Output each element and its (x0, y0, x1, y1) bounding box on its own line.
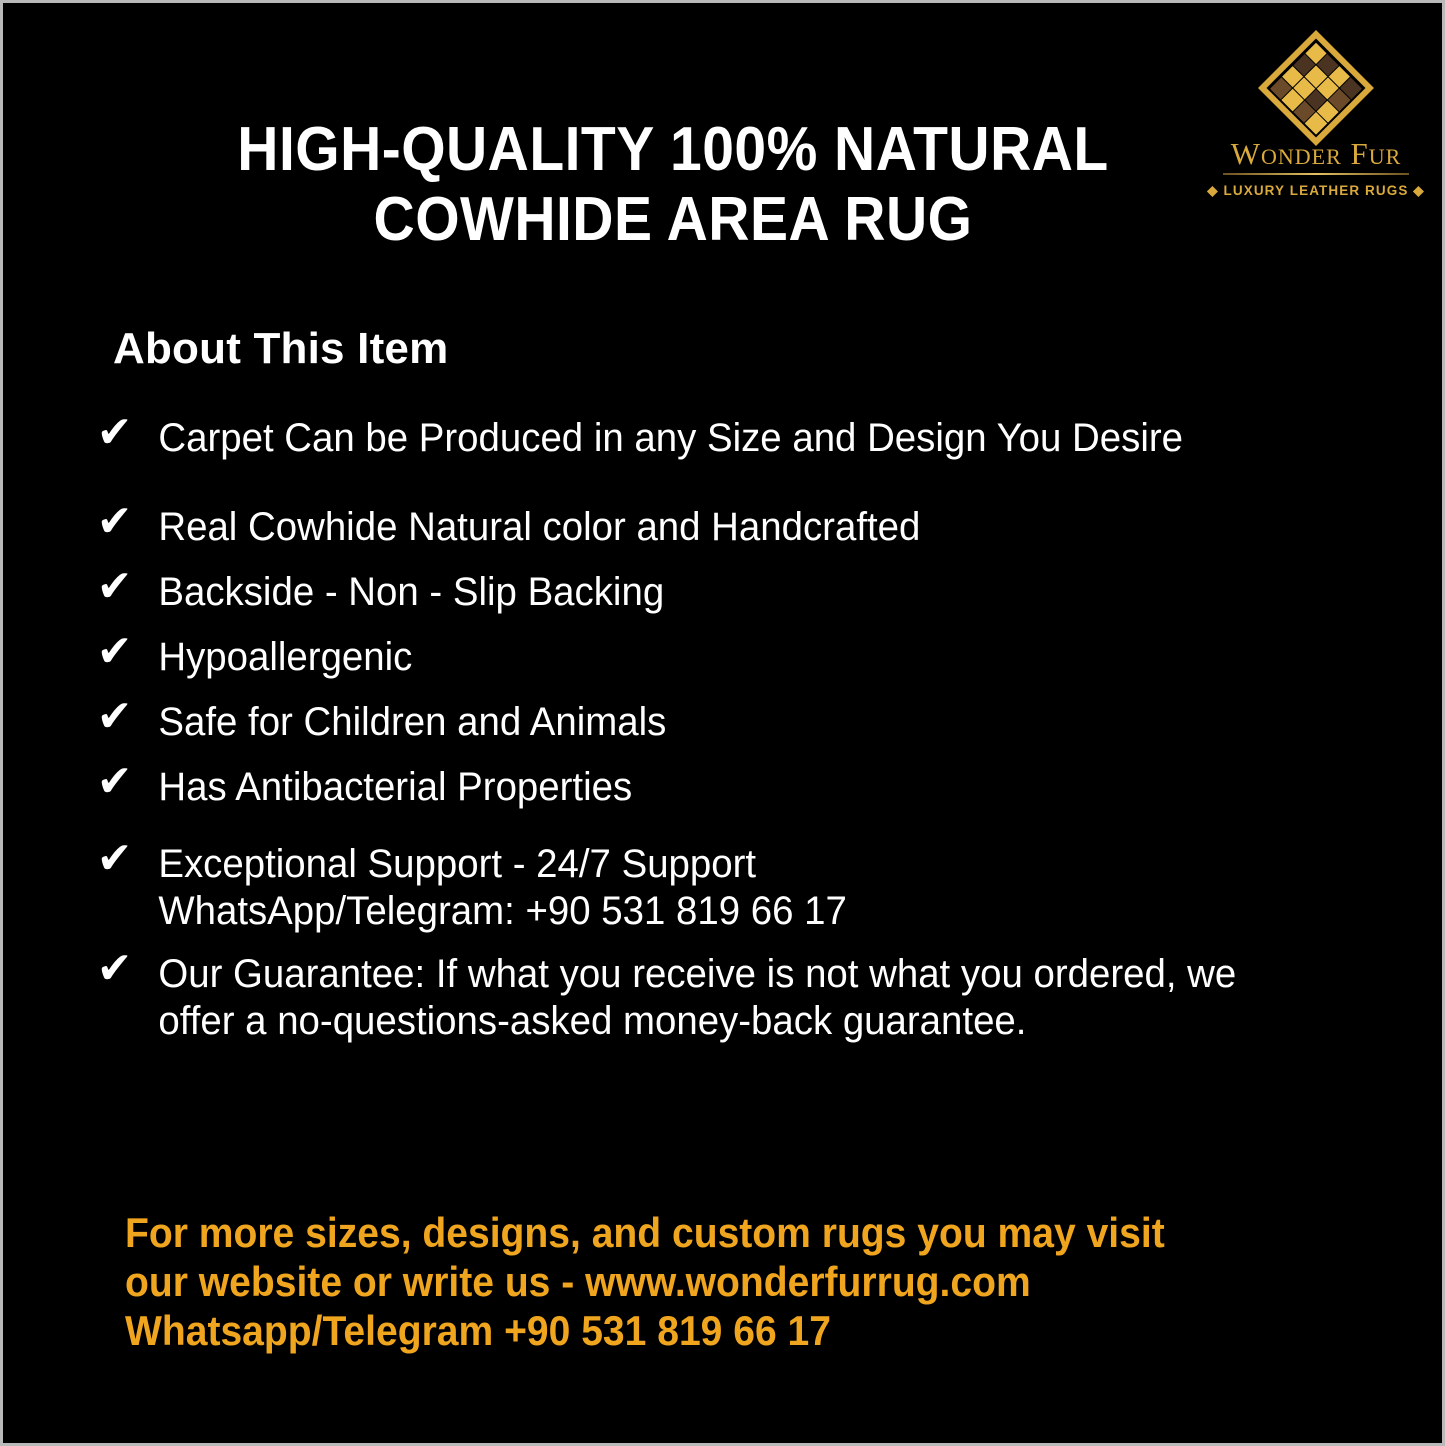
spacer (95, 935, 1385, 951)
footer-line-1: For more sizes, designs, and custom rugs… (125, 1208, 1288, 1257)
list-item-text: Hypoallergenic (158, 635, 412, 679)
check-icon: ✔ (97, 409, 132, 456)
title-line-2: COWHIDE AREA RUG (195, 185, 1152, 255)
footer-line-3[interactable]: Whatsapp/Telegram +90 531 819 66 17 (125, 1306, 1288, 1355)
spacer (95, 681, 1385, 699)
list-item: ✔ Exceptional Support - 24/7 Support Wha… (95, 841, 1333, 935)
list-item-text: Our Guarantee: If what you receive is no… (158, 952, 1236, 996)
list-item: ✔ Our Guarantee: If what you receive is … (95, 951, 1333, 1045)
spacer (95, 462, 1385, 504)
spacer (95, 811, 1385, 841)
list-item-text: Backside - Non - Slip Backing (158, 570, 664, 614)
header: HIGH-QUALITY 100% NATURAL COWHIDE AREA R… (3, 3, 1442, 293)
list-item: ✔ Backside - Non - Slip Backing (95, 569, 1333, 616)
feature-list: ✔ Carpet Can be Produced in any Size and… (95, 415, 1385, 1045)
brand-tagline: ◆ LUXURY LEATHER RUGS ◆ (1207, 181, 1425, 201)
contact-footer: For more sizes, designs, and custom rugs… (125, 1208, 1375, 1355)
check-icon: ✔ (97, 758, 132, 805)
about-this-item-heading: About This Item (113, 321, 448, 377)
diamond-pattern-icon (1258, 30, 1374, 146)
list-item-text-line2: offer a no-questions-asked money-back gu… (158, 998, 1333, 1045)
list-item-text: Real Cowhide Natural color and Handcraft… (158, 505, 920, 549)
check-icon: ✔ (97, 628, 132, 675)
footer-line-2[interactable]: our website or write us - www.wonderfurr… (125, 1257, 1288, 1306)
check-icon: ✔ (97, 945, 132, 992)
list-item: ✔ Safe for Children and Animals (95, 699, 1333, 746)
title-line-1: HIGH-QUALITY 100% NATURAL (195, 115, 1152, 185)
check-icon: ✔ (97, 563, 132, 610)
list-item: ✔ Has Antibacterial Properties (95, 764, 1333, 811)
check-icon: ✔ (97, 835, 132, 882)
list-item-text: Safe for Children and Animals (158, 700, 666, 744)
brand-logo: Wonder Fur ◆ LUXURY LEATHER RUGS ◆ (1207, 45, 1425, 213)
list-item: ✔ Hypoallergenic (95, 634, 1333, 681)
spacer (95, 551, 1385, 569)
check-icon: ✔ (97, 498, 132, 545)
product-infographic: HIGH-QUALITY 100% NATURAL COWHIDE AREA R… (0, 0, 1445, 1446)
spacer (95, 616, 1385, 634)
list-item: ✔ Carpet Can be Produced in any Size and… (95, 415, 1333, 462)
list-item-text: Exceptional Support - 24/7 Support (158, 842, 756, 886)
list-item-text: Has Antibacterial Properties (158, 765, 632, 809)
spacer (95, 746, 1385, 764)
logo-divider (1223, 173, 1409, 175)
list-item-text-line2: WhatsApp/Telegram: +90 531 819 66 17 (158, 888, 1333, 935)
list-item-text: Carpet Can be Produced in any Size and D… (158, 416, 1183, 460)
list-item: ✔ Real Cowhide Natural color and Handcra… (95, 504, 1333, 551)
check-icon: ✔ (97, 693, 132, 740)
brand-name: Wonder Fur (1207, 137, 1425, 171)
page-title: HIGH-QUALITY 100% NATURAL COWHIDE AREA R… (153, 115, 1193, 255)
